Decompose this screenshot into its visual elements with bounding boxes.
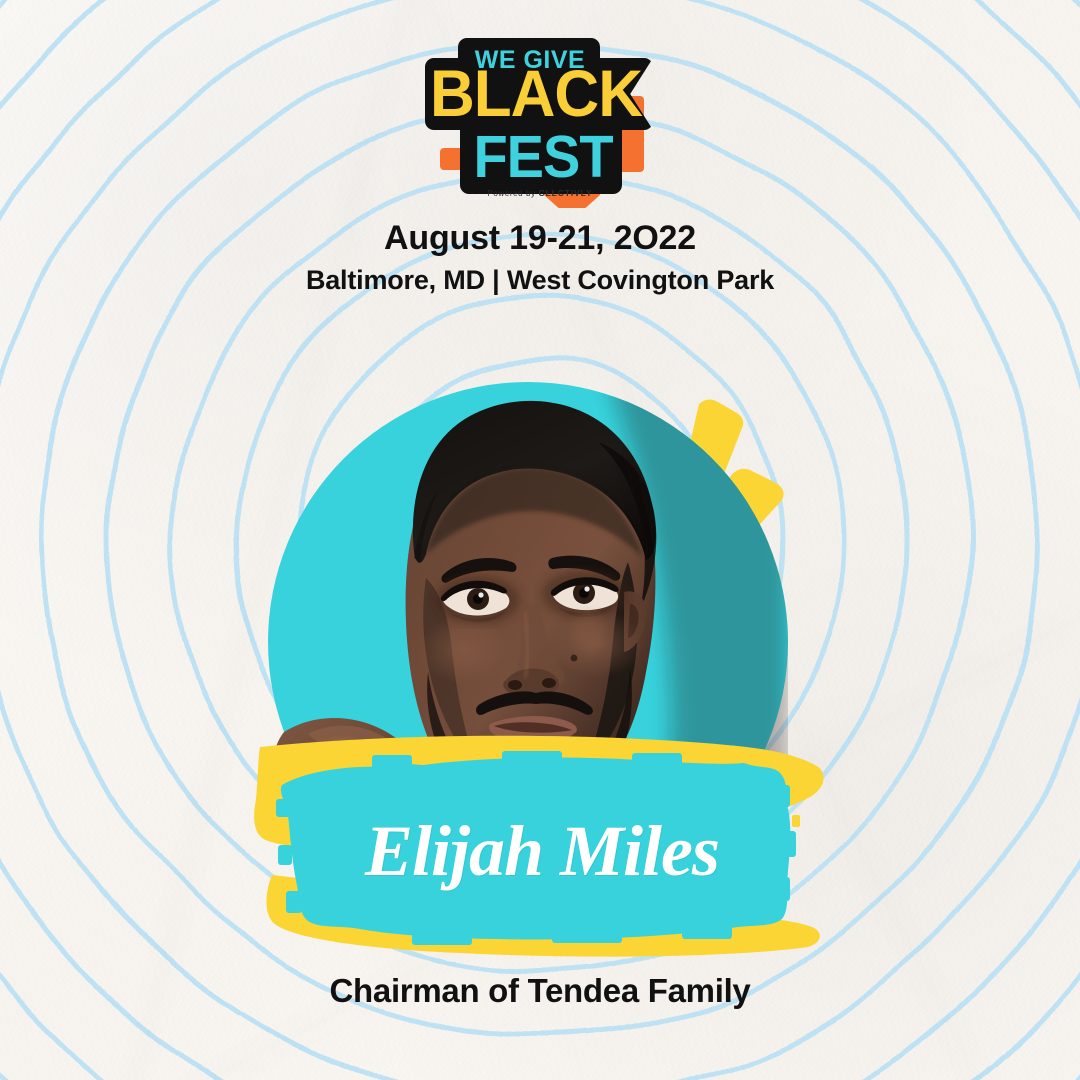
speaker-name-text: Elijah Miles: [252, 811, 832, 891]
speaker-announcement-poster: WE GIVE BLACK FEST Powered by CLLCTIVLY …: [0, 0, 1080, 1080]
speaker-role-text: Chairman of Tendea Family: [0, 972, 1080, 1010]
speaker-portrait: [268, 382, 788, 777]
speaker-name-banner: Elijah Miles: [252, 725, 832, 960]
